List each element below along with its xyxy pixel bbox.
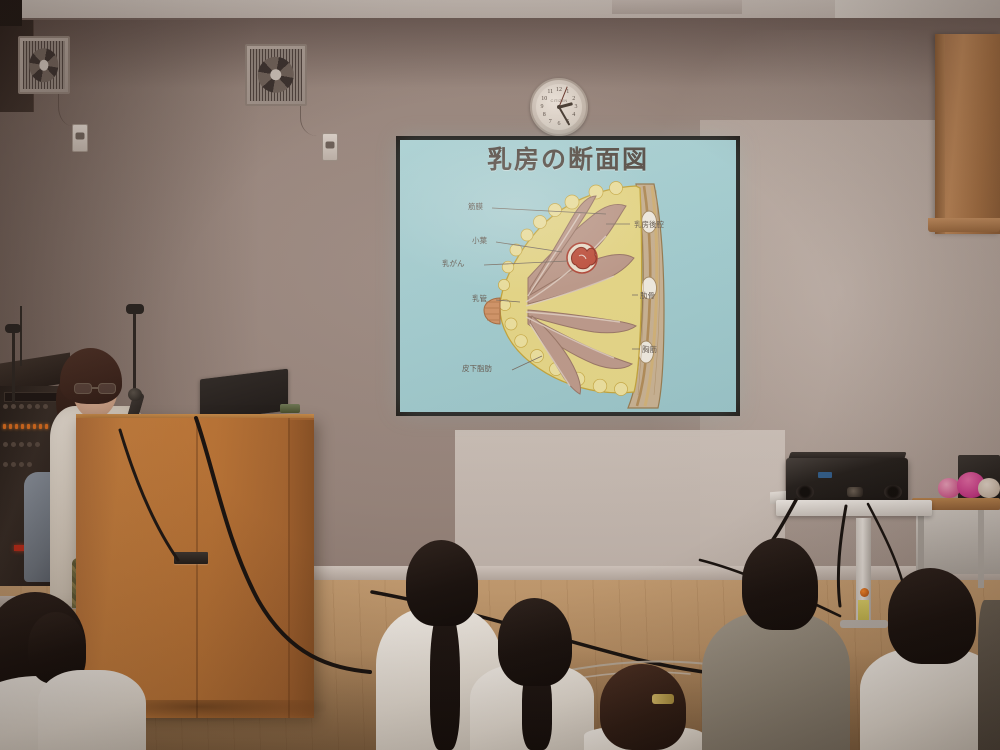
glasses-icon	[74, 383, 118, 395]
wooden-column-base	[928, 218, 1000, 232]
projection-screen: 乳房の断面図	[400, 140, 736, 412]
photo-scene: CITIZEN 12 1 2 3 4 5 6 7 8 9 10 11 乳房の断面…	[0, 0, 1000, 750]
side-table-cabinet	[916, 510, 1000, 574]
clock-center-pin	[557, 105, 561, 109]
breast-cancer-label: 乳がん	[442, 258, 465, 269]
baseboard	[300, 566, 1000, 580]
clock-numeral: 2	[572, 96, 575, 102]
hair	[742, 538, 818, 630]
projector-vent	[796, 485, 814, 499]
hair	[600, 664, 686, 750]
rib-label: 肋骨	[640, 290, 655, 301]
clock-numeral: 3	[575, 104, 578, 110]
projector-stand-foot	[840, 620, 888, 628]
exhaust-fan-right-icon	[245, 44, 307, 106]
projector-vent	[884, 485, 902, 499]
clock-numeral: 6	[558, 121, 561, 127]
milk-duct-label: 乳管	[472, 293, 487, 304]
laptop-hinge	[280, 404, 300, 413]
wall-clock: CITIZEN 12 1 2 3 4 5 6 7 8 9 10 11	[530, 78, 588, 136]
podium-seam	[196, 418, 198, 718]
presenter-hair	[60, 348, 122, 404]
wall-switch-left[interactable]	[72, 124, 88, 152]
podium-side-panel	[288, 420, 314, 716]
clock-numeral: 8	[543, 112, 546, 118]
podium-seam	[288, 418, 290, 718]
gray-shirt	[702, 612, 850, 750]
breast-cross-section-diagram	[400, 140, 736, 412]
clock-numeral: 1	[566, 89, 569, 95]
subcutaneous-fat-label: 皮下脂肪	[462, 363, 492, 374]
projector-badge	[818, 472, 832, 478]
retromammary-space-label: 乳房後腔	[634, 219, 664, 230]
hair-clip	[652, 694, 674, 704]
wall-switch-right[interactable]	[322, 133, 338, 161]
mic-stand-head	[5, 324, 21, 333]
clock-numeral: 9	[540, 104, 543, 110]
height-adjust-knob[interactable]	[860, 588, 869, 597]
mic-stand-pole	[20, 306, 22, 366]
uniform-shirt	[38, 670, 146, 750]
wall-speaker-top	[0, 0, 22, 26]
clock-numeral: 4	[572, 112, 575, 118]
lobule-label: 小葉	[472, 235, 487, 246]
clock-face: CITIZEN 12 1 2 3 4 5 6 7 8 9 10 11	[536, 84, 582, 130]
clock-brand-label: CITIZEN	[551, 98, 568, 103]
clock-numeral: 12	[556, 87, 562, 93]
hair	[888, 568, 976, 664]
mic-stand-pole	[12, 330, 15, 402]
projector-lens	[847, 487, 863, 497]
podium-nameplate	[174, 552, 208, 564]
fascia-label: 筋膜	[468, 201, 483, 212]
warning-label	[858, 600, 869, 622]
side-table-leg	[978, 510, 984, 588]
ceiling-tile	[612, 0, 742, 14]
wooden-column-edge	[935, 34, 945, 234]
clock-numeral: 7	[549, 119, 552, 125]
pectoral-muscle-label: 胸筋	[642, 344, 657, 355]
clock-numeral: 10	[541, 96, 547, 102]
microphone-head[interactable]	[128, 388, 142, 401]
hair	[406, 540, 478, 626]
mic-stand-head	[126, 304, 144, 314]
audience-member-partial	[978, 600, 1000, 750]
hair	[498, 598, 572, 686]
projector-stand-shelf	[776, 500, 932, 516]
clock-numeral: 11	[547, 89, 553, 95]
breast-model	[978, 478, 1000, 498]
exhaust-fan-left-icon	[18, 36, 70, 94]
